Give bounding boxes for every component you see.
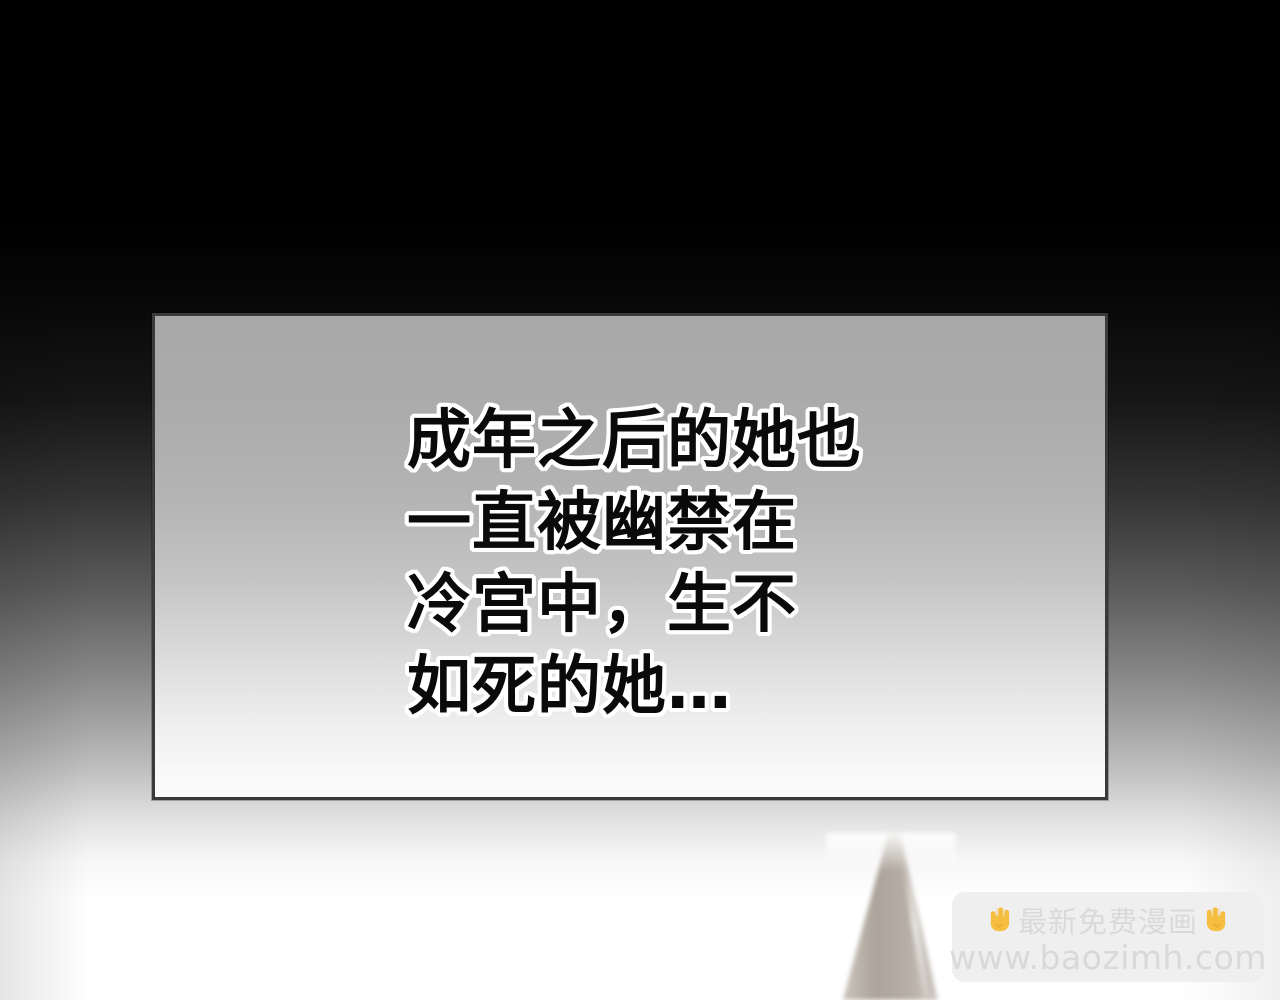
cone-tip-fade: [826, 833, 956, 871]
pointing-down-hand-icon-right: [1202, 905, 1232, 935]
narration-box: 成年之后的她也 一直被幽禁在 冷宫中，生不 如死的她…: [152, 313, 1108, 800]
pointing-down-hand-icon-left: [984, 905, 1014, 935]
narration-line-4: 如死的她…: [407, 646, 1047, 728]
narration-line-2: 一直被幽禁在: [407, 482, 1047, 564]
watermark-promo-text: 最新免费漫画: [1018, 899, 1198, 941]
cone-shape: [826, 833, 956, 1000]
narration-line-1: 成年之后的她也: [407, 400, 1047, 482]
narration-text: 成年之后的她也 一直被幽禁在 冷宫中，生不 如死的她…: [407, 400, 1047, 728]
comic-panel: 成年之后的她也 一直被幽禁在 冷宫中，生不 如死的她… 最新免费漫画 www.: [0, 0, 1280, 1000]
watermark-url[interactable]: www.baozimh.com: [949, 940, 1267, 976]
watermark-promo-row: 最新免费漫画: [984, 900, 1232, 940]
site-watermark[interactable]: 最新免费漫画 www.baozimh.com: [952, 892, 1264, 982]
narration-line-3: 冷宫中，生不: [407, 564, 1047, 646]
